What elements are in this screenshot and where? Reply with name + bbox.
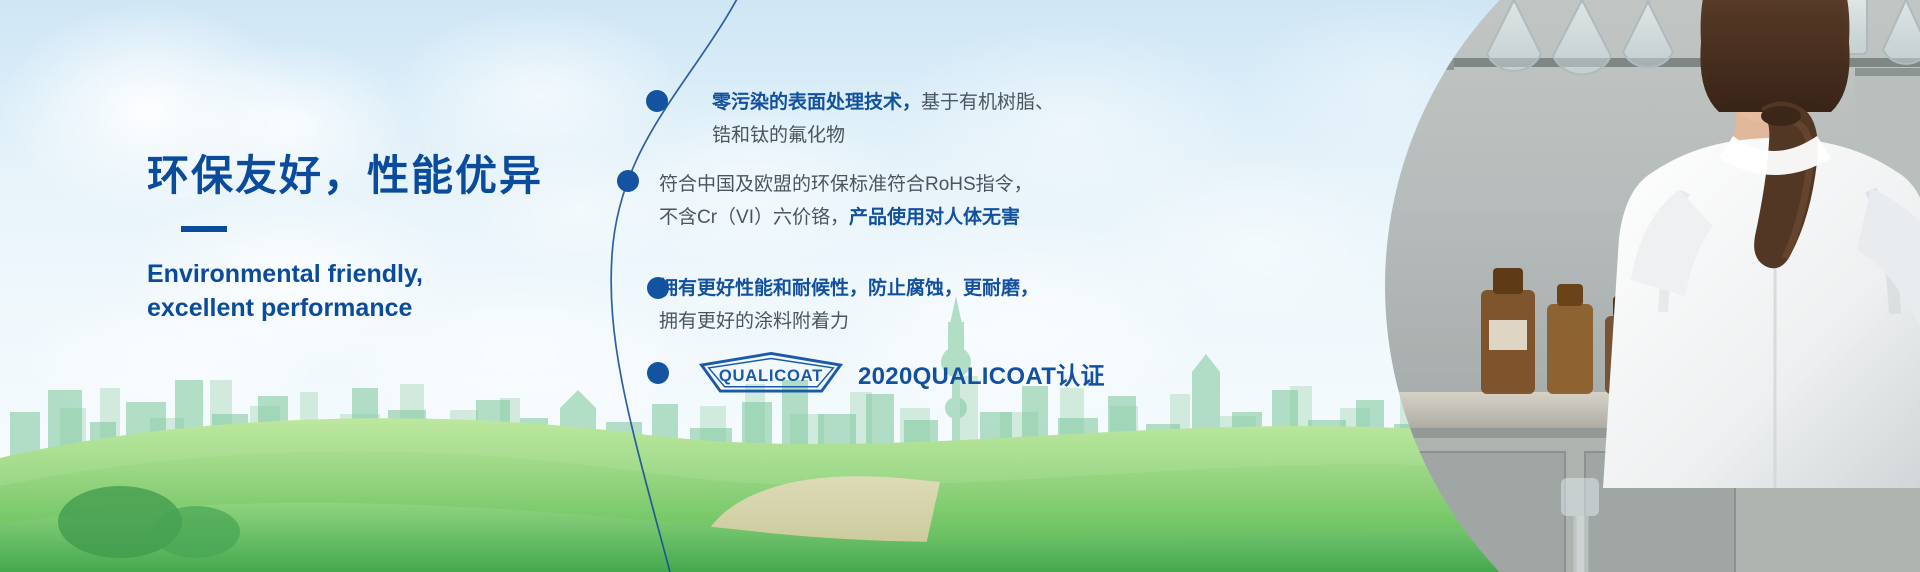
feature-item-3: 拥有更好性能和耐候性，防止腐蚀，更耐磨， 拥有更好的涂料附着力 bbox=[659, 272, 1039, 338]
bullet-dot-4 bbox=[647, 362, 669, 384]
certification-label: 2020QUALICOAT认证 bbox=[858, 356, 1105, 391]
bullet-dot-2 bbox=[617, 170, 639, 192]
lab-photo-circle bbox=[1385, 0, 1920, 572]
feature-1-strong: 零污染的表面处理技术， bbox=[712, 92, 921, 113]
laboratory-photo bbox=[1385, 0, 1920, 572]
feature-2-normal: 不含Cr（VI）六价铬， bbox=[659, 207, 849, 228]
feature-item-2: 符合中国及欧盟的环保标准符合RoHS指令， 不含Cr（VI）六价铬，产品使用对人… bbox=[659, 168, 1033, 234]
feature-1-normal: 基于有机树脂、 bbox=[921, 92, 1054, 113]
feature-1-line-2: 锆和钛的氟化物 bbox=[712, 119, 1054, 152]
feature-2-line-2: 不含Cr（VI）六价铬，产品使用对人体无害 bbox=[659, 201, 1033, 234]
photo-area bbox=[1100, 0, 1920, 572]
feature-item-1: 零污染的表面处理技术，基于有机树脂、 锆和钛的氟化物 bbox=[712, 86, 1054, 152]
feature-2-line-1: 符合中国及欧盟的环保标准符合RoHS指令， bbox=[659, 168, 1033, 201]
certification-row: QUALICOAT 2020QUALICOAT认证 bbox=[698, 352, 1105, 394]
promo-banner: 环保友好，性能优异 Environmental friendly, excell… bbox=[0, 0, 1920, 572]
qualicoat-logo-icon: QUALICOAT bbox=[698, 352, 844, 394]
feature-2-strong: 产品使用对人体无害 bbox=[849, 207, 1020, 228]
feature-1-line-1: 零污染的表面处理技术，基于有机树脂、 bbox=[712, 86, 1054, 119]
bullet-dot-1 bbox=[646, 90, 668, 112]
qualicoat-logo-text: QUALICOAT bbox=[719, 366, 823, 385]
feature-3-line-1: 拥有更好性能和耐候性，防止腐蚀，更耐磨， bbox=[659, 272, 1039, 305]
feature-3-line-2: 拥有更好的涂料附着力 bbox=[659, 305, 1039, 338]
